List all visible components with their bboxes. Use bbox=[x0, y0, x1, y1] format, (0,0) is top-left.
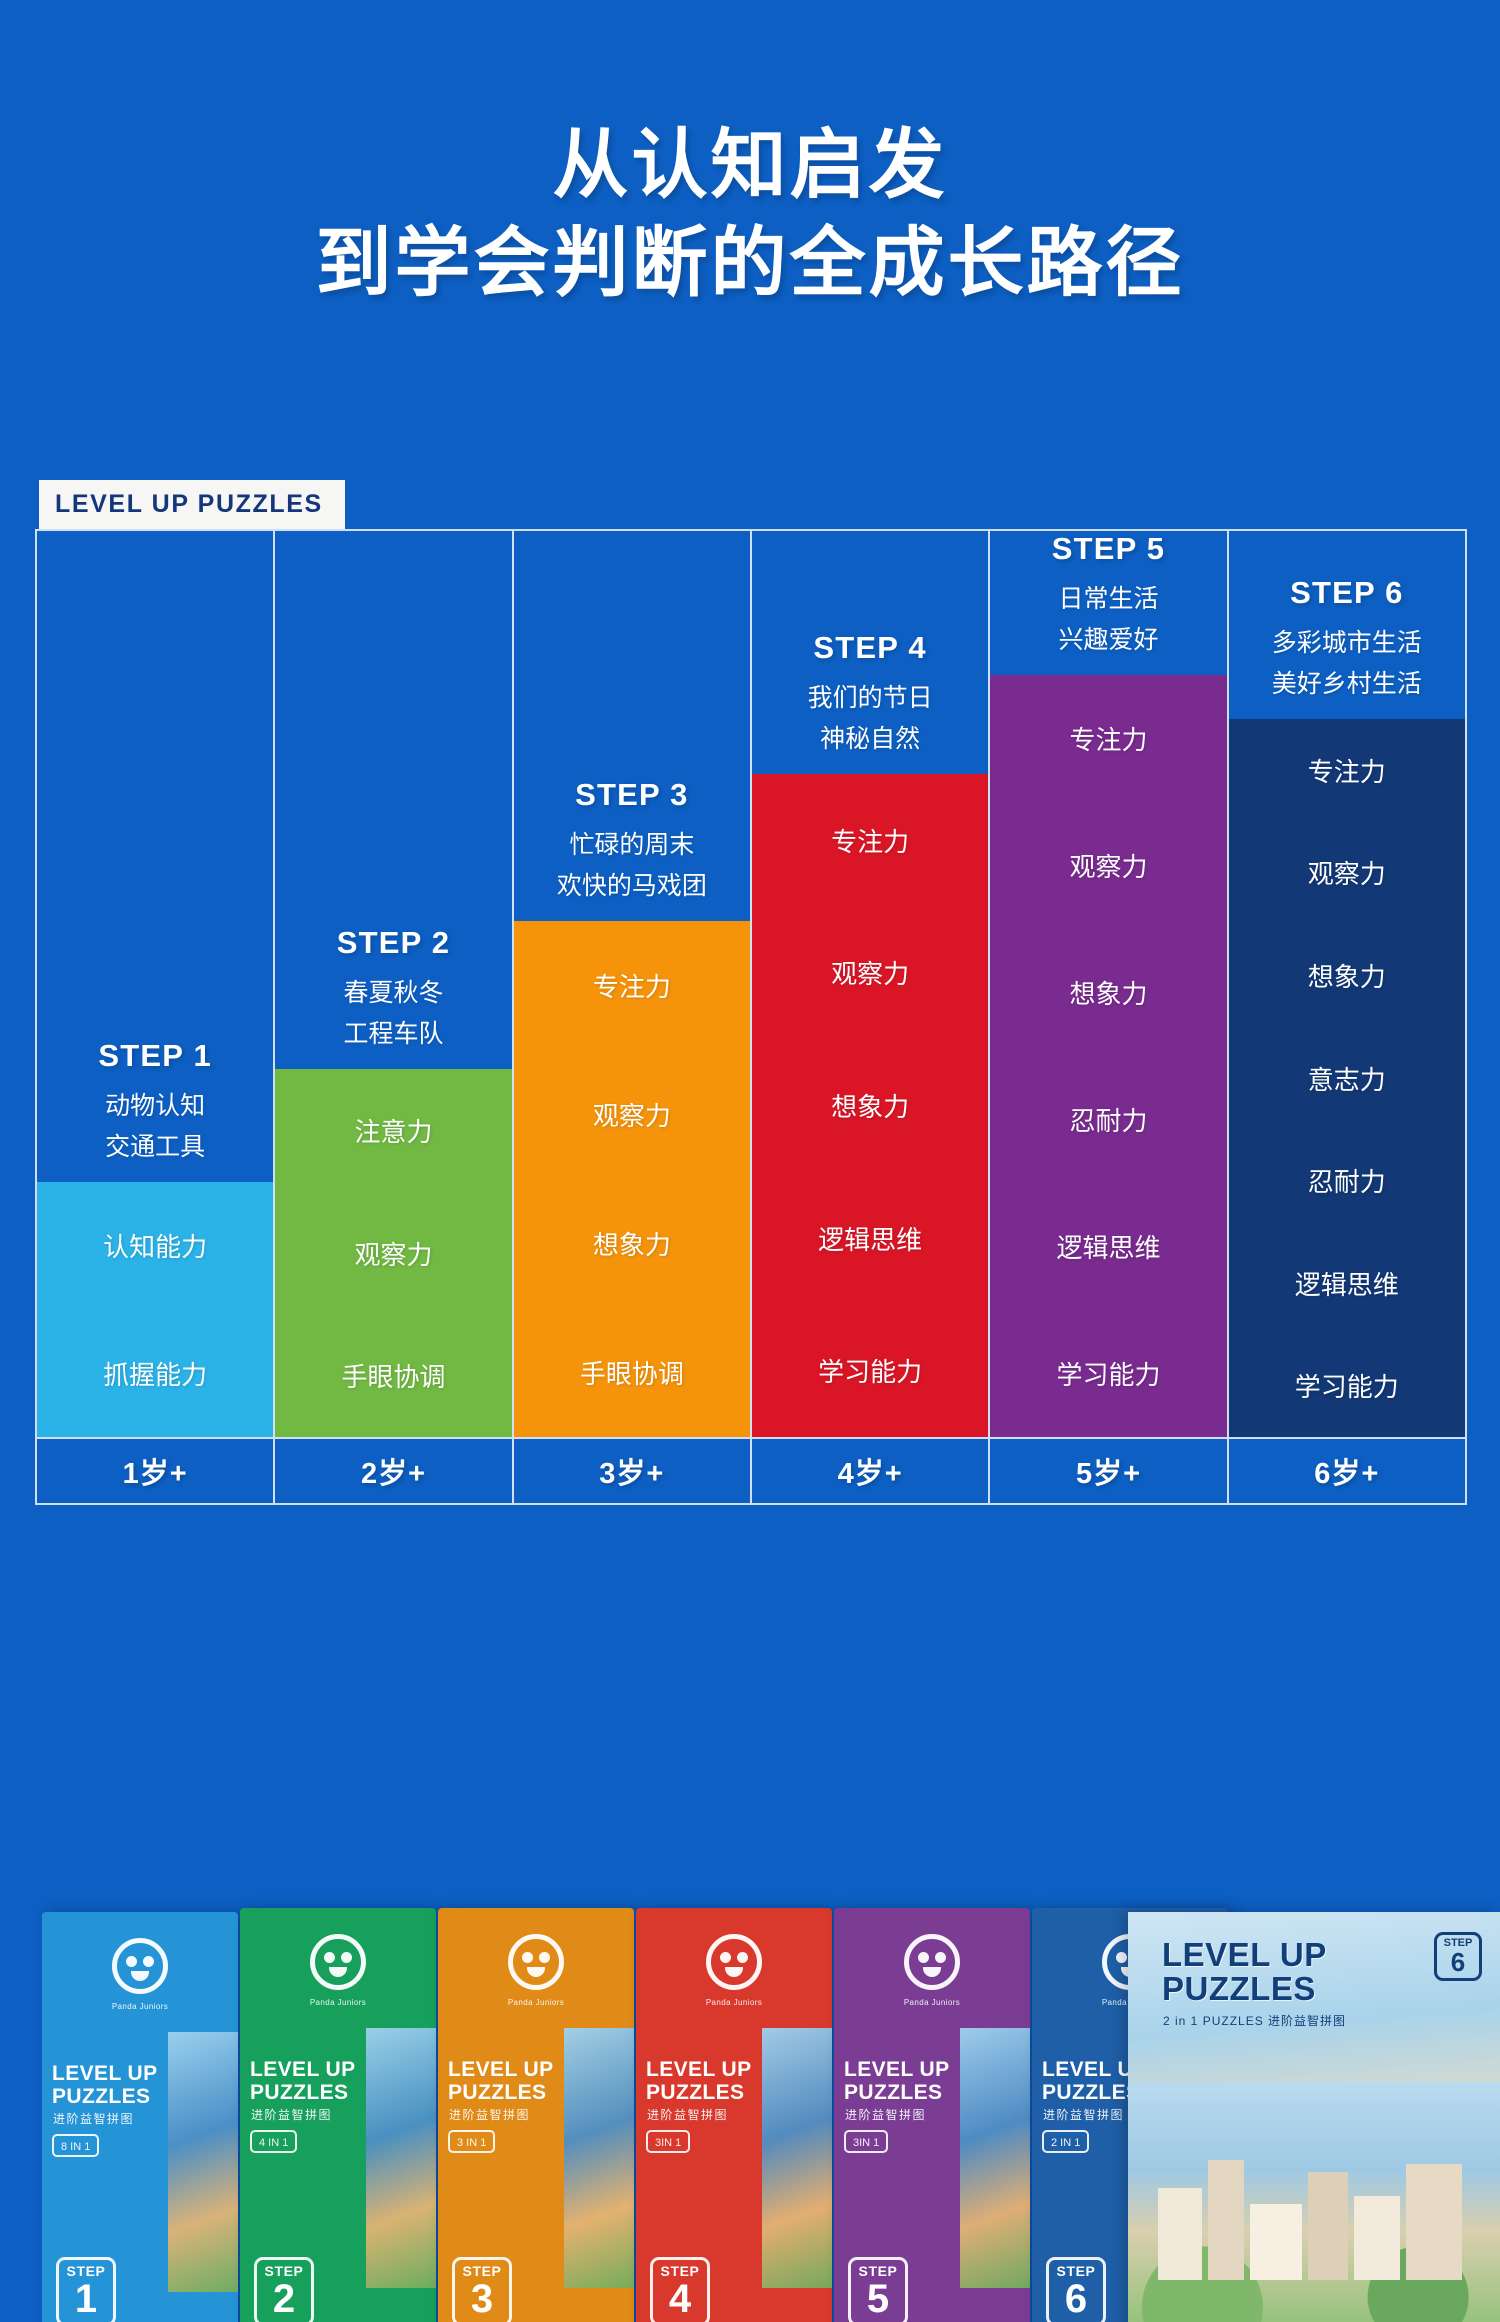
skill-cell: 观察力 bbox=[990, 802, 1226, 929]
piece-count-badge: 3IN 1 bbox=[646, 2130, 690, 2153]
product-box-large-step-6[interactable]: LEVEL UP PUZZLES 2 in 1 PUZZLES 进阶益智拼图 S… bbox=[1128, 1912, 1500, 2322]
column-header: STEP 2 春夏秋冬 工程车队 bbox=[275, 925, 511, 1069]
skill-cell: 逻辑思维 bbox=[1229, 1232, 1465, 1335]
step-label: STEP 2 bbox=[281, 925, 505, 961]
product-title-cn: 进阶益智拼图 bbox=[251, 2106, 332, 2123]
product-title-cn: 进阶益智拼图 bbox=[53, 2110, 134, 2127]
step-theme-1: 忙碌的周末 bbox=[520, 825, 744, 866]
product-box-step-1[interactable]: Panda Juniors LEVEL UPPUZZLES 进阶益智拼图 8 I… bbox=[42, 1912, 238, 2322]
column-header: STEP 5 日常生活 兴趣爱好 bbox=[990, 531, 1226, 675]
brand-name: Panda Juniors bbox=[636, 1998, 832, 2007]
chart-column-step-4[interactable]: STEP 4 我们的节日 神秘自然 专注力 观察力 想象力 逻辑思维 学习能力 bbox=[752, 531, 990, 1437]
skill-cell: 抓握能力 bbox=[37, 1310, 273, 1438]
step-badge: STEP 2 bbox=[254, 2257, 314, 2322]
piece-count-badge: 3 IN 1 bbox=[448, 2130, 495, 2153]
skill-cell: 逻辑思维 bbox=[752, 1172, 988, 1305]
chart-columns: STEP 1 动物认知 交通工具 认知能力 抓握能力 STEP 2 春夏秋冬 工… bbox=[35, 529, 1467, 1437]
step-theme-2: 美好乡村生活 bbox=[1235, 664, 1459, 705]
age-label: 4岁+ bbox=[752, 1439, 990, 1503]
product-title-cn: 进阶益智拼图 bbox=[449, 2106, 530, 2123]
puzzle-art bbox=[366, 2028, 436, 2288]
piece-count: 8 IN 1 bbox=[61, 2141, 90, 2153]
product-box-step-4[interactable]: Panda Juniors LEVEL UPPUZZLES 进阶益智拼图 3IN… bbox=[636, 1908, 832, 2322]
age-label: 2岁+ bbox=[275, 1439, 513, 1503]
step-label: STEP 6 bbox=[1235, 575, 1459, 611]
skill-cell: 意志力 bbox=[1229, 1027, 1465, 1130]
brand-name: Panda Juniors bbox=[240, 1998, 436, 2007]
panda-logo-icon bbox=[310, 1934, 366, 1990]
age-label: 3岁+ bbox=[514, 1439, 752, 1503]
skill-cell: 想象力 bbox=[990, 929, 1226, 1056]
piece-count: 3 IN 1 bbox=[457, 2137, 486, 2149]
piece-count: 4 IN 1 bbox=[259, 2137, 288, 2149]
step-number: 3 bbox=[455, 2279, 509, 2319]
step-number: 4 bbox=[653, 2279, 707, 2319]
step-label: STEP 1 bbox=[43, 1038, 267, 1074]
panda-logo-icon bbox=[904, 1934, 960, 1990]
step-theme-2: 工程车队 bbox=[281, 1014, 505, 1055]
panda-logo-icon bbox=[706, 1934, 762, 1990]
headline-line-1: 从认知启发 bbox=[0, 118, 1500, 214]
page-title: 从认知启发 到学会判断的全成长路径 bbox=[0, 0, 1500, 314]
step-theme-2: 欢快的马戏团 bbox=[520, 866, 744, 907]
step-label: STEP 5 bbox=[996, 531, 1220, 567]
skill-cell: 逻辑思维 bbox=[990, 1183, 1226, 1310]
piece-count-badge: 8 IN 1 bbox=[52, 2134, 99, 2157]
skill-bar: 专注力 观察力 想象力 逻辑思维 学习能力 bbox=[752, 774, 988, 1437]
step-badge: STEP 3 bbox=[452, 2257, 512, 2322]
skill-cell: 忍耐力 bbox=[990, 1056, 1226, 1183]
skill-cell: 观察力 bbox=[752, 907, 988, 1040]
large-title-line-2: PUZZLES bbox=[1162, 1970, 1316, 2007]
level-up-chart: LEVEL UP PUZZLES STEP 1 动物认知 交通工具 认知能力 抓… bbox=[35, 480, 1467, 1505]
product-title-cn: 进阶益智拼图 bbox=[647, 2106, 728, 2123]
skill-cell: 专注力 bbox=[990, 675, 1226, 802]
step-badge: STEP 6 bbox=[1046, 2257, 1106, 2322]
step-theme-2: 交通工具 bbox=[43, 1127, 267, 1168]
chart-badge: LEVEL UP PUZZLES bbox=[39, 480, 345, 529]
skill-cell: 手眼协调 bbox=[514, 1308, 750, 1437]
step-number: 1 bbox=[59, 2279, 113, 2319]
product-title-cn: 进阶益智拼图 bbox=[1043, 2106, 1124, 2123]
step-theme-1: 多彩城市生活 bbox=[1235, 623, 1459, 664]
large-title-line-1: LEVEL UP bbox=[1162, 1936, 1327, 1973]
piece-count: 3IN 1 bbox=[853, 2137, 879, 2149]
step-theme-1: 春夏秋冬 bbox=[281, 973, 505, 1014]
product-title-cn: 进阶益智拼图 bbox=[845, 2106, 926, 2123]
skill-bar: 专注力 观察力 想象力 忍耐力 逻辑思维 学习能力 bbox=[990, 675, 1226, 1437]
product-boxes-photo: Panda Juniors LEVEL UPPUZZLES 进阶益智拼图 8 I… bbox=[0, 1890, 1500, 2322]
product-box-step-2[interactable]: Panda Juniors LEVEL UPPUZZLES 进阶益智拼图 4 I… bbox=[240, 1908, 436, 2322]
step-badge: STEP 1 bbox=[56, 2257, 116, 2322]
chart-column-step-3[interactable]: STEP 3 忙碌的周末 欢快的马戏团 专注力 观察力 想象力 手眼协调 bbox=[514, 531, 752, 1437]
step-theme-1: 我们的节日 bbox=[758, 678, 982, 719]
puzzle-art bbox=[564, 2028, 634, 2288]
chart-column-step-6[interactable]: STEP 6 多彩城市生活 美好乡村生活 专注力 观察力 想象力 意志力 忍耐力… bbox=[1229, 531, 1465, 1437]
column-header: STEP 3 忙碌的周末 欢快的马戏团 bbox=[514, 777, 750, 921]
age-label: 1岁+ bbox=[37, 1439, 275, 1503]
skill-cell: 学习能力 bbox=[1229, 1334, 1465, 1437]
skill-bar: 专注力 观察力 想象力 意志力 忍耐力 逻辑思维 学习能力 bbox=[1229, 719, 1465, 1437]
step-theme-1: 日常生活 bbox=[996, 579, 1220, 620]
step-label: STEP 4 bbox=[758, 630, 982, 666]
skill-cell: 观察力 bbox=[275, 1192, 511, 1315]
panda-logo-icon bbox=[508, 1934, 564, 1990]
chart-column-step-2[interactable]: STEP 2 春夏秋冬 工程车队 注意力 观察力 手眼协调 bbox=[275, 531, 513, 1437]
puzzle-art bbox=[762, 2028, 832, 2288]
step-badge: STEP 5 bbox=[848, 2257, 908, 2322]
skill-bar: 注意力 观察力 手眼协调 bbox=[275, 1069, 511, 1437]
panda-logo-icon bbox=[112, 1938, 168, 1994]
skill-bar: 认知能力 抓握能力 bbox=[37, 1182, 273, 1437]
large-product-subtitle: 2 in 1 PUZZLES 进阶益智拼图 bbox=[1163, 2012, 1346, 2029]
column-header: STEP 1 动物认知 交通工具 bbox=[37, 1038, 273, 1182]
skill-cell: 注意力 bbox=[275, 1069, 511, 1192]
skill-cell: 专注力 bbox=[1229, 719, 1465, 822]
skill-cell: 专注力 bbox=[752, 774, 988, 907]
step-badge: STEP 4 bbox=[650, 2257, 710, 2322]
large-product-title: LEVEL UP PUZZLES bbox=[1162, 1938, 1327, 2006]
skill-cell: 认知能力 bbox=[37, 1182, 273, 1310]
skill-cell: 想象力 bbox=[1229, 924, 1465, 1027]
piece-count: 2 IN 1 bbox=[1051, 2137, 1080, 2149]
skill-cell: 想象力 bbox=[752, 1039, 988, 1172]
puzzle-art bbox=[960, 2028, 1030, 2288]
piece-count-badge: 2 IN 1 bbox=[1042, 2130, 1089, 2153]
product-box-step-3[interactable]: Panda Juniors LEVEL UPPUZZLES 进阶益智拼图 3 I… bbox=[438, 1908, 634, 2322]
product-box-step-5[interactable]: Panda Juniors LEVEL UPPUZZLES 进阶益智拼图 3IN… bbox=[834, 1908, 1030, 2322]
brand-name: Panda Juniors bbox=[42, 2002, 238, 2011]
step-theme-2: 神秘自然 bbox=[758, 719, 982, 760]
skill-bar: 专注力 观察力 想象力 手眼协调 bbox=[514, 921, 750, 1437]
piece-count-badge: 4 IN 1 bbox=[250, 2130, 297, 2153]
skill-cell: 想象力 bbox=[514, 1179, 750, 1308]
brand-name: Panda Juniors bbox=[438, 1998, 634, 2007]
headline-line-2: 到学会判断的全成长路径 bbox=[0, 214, 1500, 314]
skill-cell: 观察力 bbox=[514, 1050, 750, 1179]
skill-cell: 学习能力 bbox=[752, 1304, 988, 1437]
piece-count-badge: 3IN 1 bbox=[844, 2130, 888, 2153]
skill-cell: 忍耐力 bbox=[1229, 1129, 1465, 1232]
step-number: 6 bbox=[1437, 1949, 1479, 1975]
step-theme-2: 兴趣爱好 bbox=[996, 620, 1220, 661]
step-number: 6 bbox=[1049, 2279, 1103, 2319]
step-badge: STEP 6 bbox=[1434, 1932, 1482, 1981]
skill-cell: 观察力 bbox=[1229, 822, 1465, 925]
brand-name: Panda Juniors bbox=[834, 1998, 1030, 2007]
age-axis: 1岁+ 2岁+ 3岁+ 4岁+ 5岁+ 6岁+ bbox=[35, 1437, 1467, 1505]
age-label: 5岁+ bbox=[990, 1439, 1228, 1503]
column-header: STEP 4 我们的节日 神秘自然 bbox=[752, 630, 988, 774]
step-number: 5 bbox=[851, 2279, 905, 2319]
skill-cell: 手眼协调 bbox=[275, 1314, 511, 1437]
step-number: 2 bbox=[257, 2279, 311, 2319]
step-label: STEP 3 bbox=[520, 777, 744, 813]
city-scene-art bbox=[1128, 2082, 1500, 2322]
skill-cell: 专注力 bbox=[514, 921, 750, 1050]
column-header: STEP 6 多彩城市生活 美好乡村生活 bbox=[1229, 575, 1465, 719]
step-theme-1: 动物认知 bbox=[43, 1086, 267, 1127]
piece-count: 3IN 1 bbox=[655, 2137, 681, 2149]
skill-cell: 学习能力 bbox=[990, 1310, 1226, 1437]
puzzle-art bbox=[168, 2032, 238, 2292]
chart-column-step-5[interactable]: STEP 5 日常生活 兴趣爱好 专注力 观察力 想象力 忍耐力 逻辑思维 学习… bbox=[990, 531, 1228, 1437]
chart-column-step-1[interactable]: STEP 1 动物认知 交通工具 认知能力 抓握能力 bbox=[37, 531, 275, 1437]
age-label: 6岁+ bbox=[1229, 1439, 1465, 1503]
